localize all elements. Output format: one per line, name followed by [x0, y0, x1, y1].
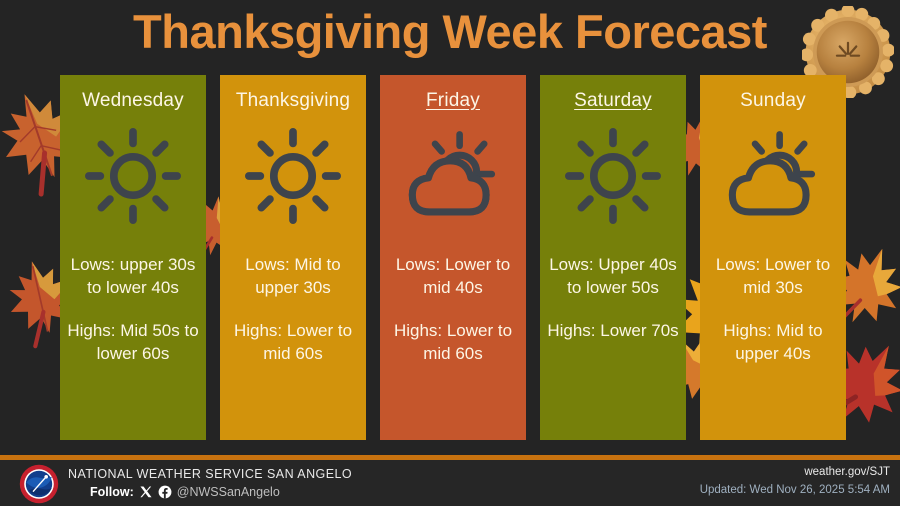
day-name: Friday: [426, 89, 480, 113]
forecast-column-saturday[interactable]: Saturday Lows: Upper 40s to lower 50s Hi…: [540, 75, 686, 440]
footer-left: NATIONAL WEATHER SERVICE SAN ANGELO Foll…: [68, 466, 352, 499]
sun-behind-cloud-icon: [721, 121, 825, 231]
sun-behind-cloud-icon: [401, 121, 505, 231]
forecast-column-friday[interactable]: Friday Lows: Lower to mid 40s Highs: L: [380, 75, 526, 440]
forecast-column-thanksgiving[interactable]: Thanksgiving Lows: Mid to upper 30s High…: [220, 75, 366, 440]
highs-text: Highs: Mid to upper 40s: [700, 319, 846, 365]
day-name: Saturday: [574, 89, 652, 113]
highs-text: Highs: Mid 50s to lower 60s: [60, 319, 206, 365]
day-name: Sunday: [740, 89, 806, 113]
facebook-icon[interactable]: [158, 485, 172, 499]
lows-text: Lows: Upper 40s to lower 50s: [540, 253, 686, 299]
lows-text: Lows: upper 30s to lower 40s: [60, 253, 206, 299]
highs-text: Highs: Lower to mid 60s: [220, 319, 366, 365]
updated-timestamp: Updated: Wed Nov 26, 2025 5:54 AM: [700, 482, 890, 498]
forecast-graphic: Thanksgiving Week Forecast: [0, 0, 900, 506]
forecast-columns: Wednesday Lows: upper 30s to lower 40s H…: [0, 75, 900, 440]
sun-icon: [245, 121, 341, 231]
day-name: Thanksgiving: [236, 89, 350, 113]
office-name: NATIONAL WEATHER SERVICE SAN ANGELO: [68, 466, 352, 482]
page-title: Thanksgiving Week Forecast: [0, 2, 900, 62]
website-url[interactable]: weather.gov/SJT: [700, 464, 890, 480]
sun-icon: [85, 121, 181, 231]
noaa-nws-seal-icon: [16, 464, 62, 504]
highs-text: Highs: Lower 70s: [540, 319, 686, 342]
sun-icon: [565, 121, 661, 231]
highs-text: Highs: Lower to mid 60s: [380, 319, 526, 365]
lows-text: Lows: Mid to upper 30s: [220, 253, 366, 299]
social-follow-row: Follow: @NWSSanAngelo: [68, 485, 352, 499]
day-name: Wednesday: [82, 89, 184, 113]
footer-right: weather.gov/SJT Updated: Wed Nov 26, 202…: [700, 464, 890, 498]
social-handle[interactable]: @NWSSanAngelo: [177, 485, 280, 499]
forecast-column-sunday[interactable]: Sunday Lows: Lower to mid 30s Highs: Mid…: [700, 75, 846, 440]
follow-label: Follow:: [90, 485, 134, 499]
lows-text: Lows: Lower to mid 30s: [700, 253, 846, 299]
x-twitter-icon[interactable]: [139, 485, 153, 499]
forecast-column-wednesday[interactable]: Wednesday Lows: upper 30s to lower 40s H…: [60, 75, 206, 440]
lows-text: Lows: Lower to mid 40s: [380, 253, 526, 299]
